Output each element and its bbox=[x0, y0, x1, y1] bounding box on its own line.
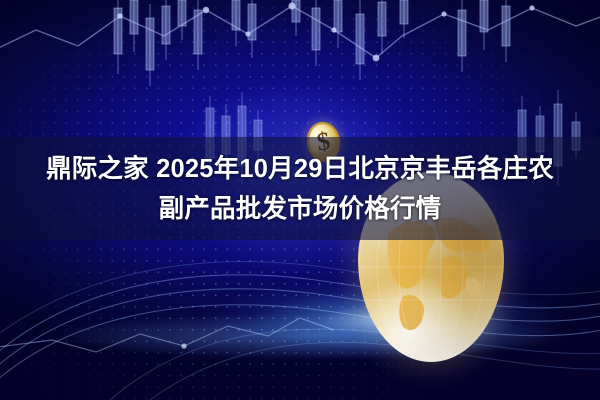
price-report-banner: $ 鼎际之家 2025年10月29日北京京丰岳各庄农 副产品批发市场价格行情 bbox=[0, 0, 600, 400]
title-line-1: 鼎际之家 2025年10月29日北京京丰岳各庄农 bbox=[46, 151, 554, 187]
banner-title: 鼎际之家 2025年10月29日北京京丰岳各庄农 副产品批发市场价格行情 bbox=[0, 137, 600, 240]
title-line-2: 副产品批发市场价格行情 bbox=[159, 191, 442, 227]
